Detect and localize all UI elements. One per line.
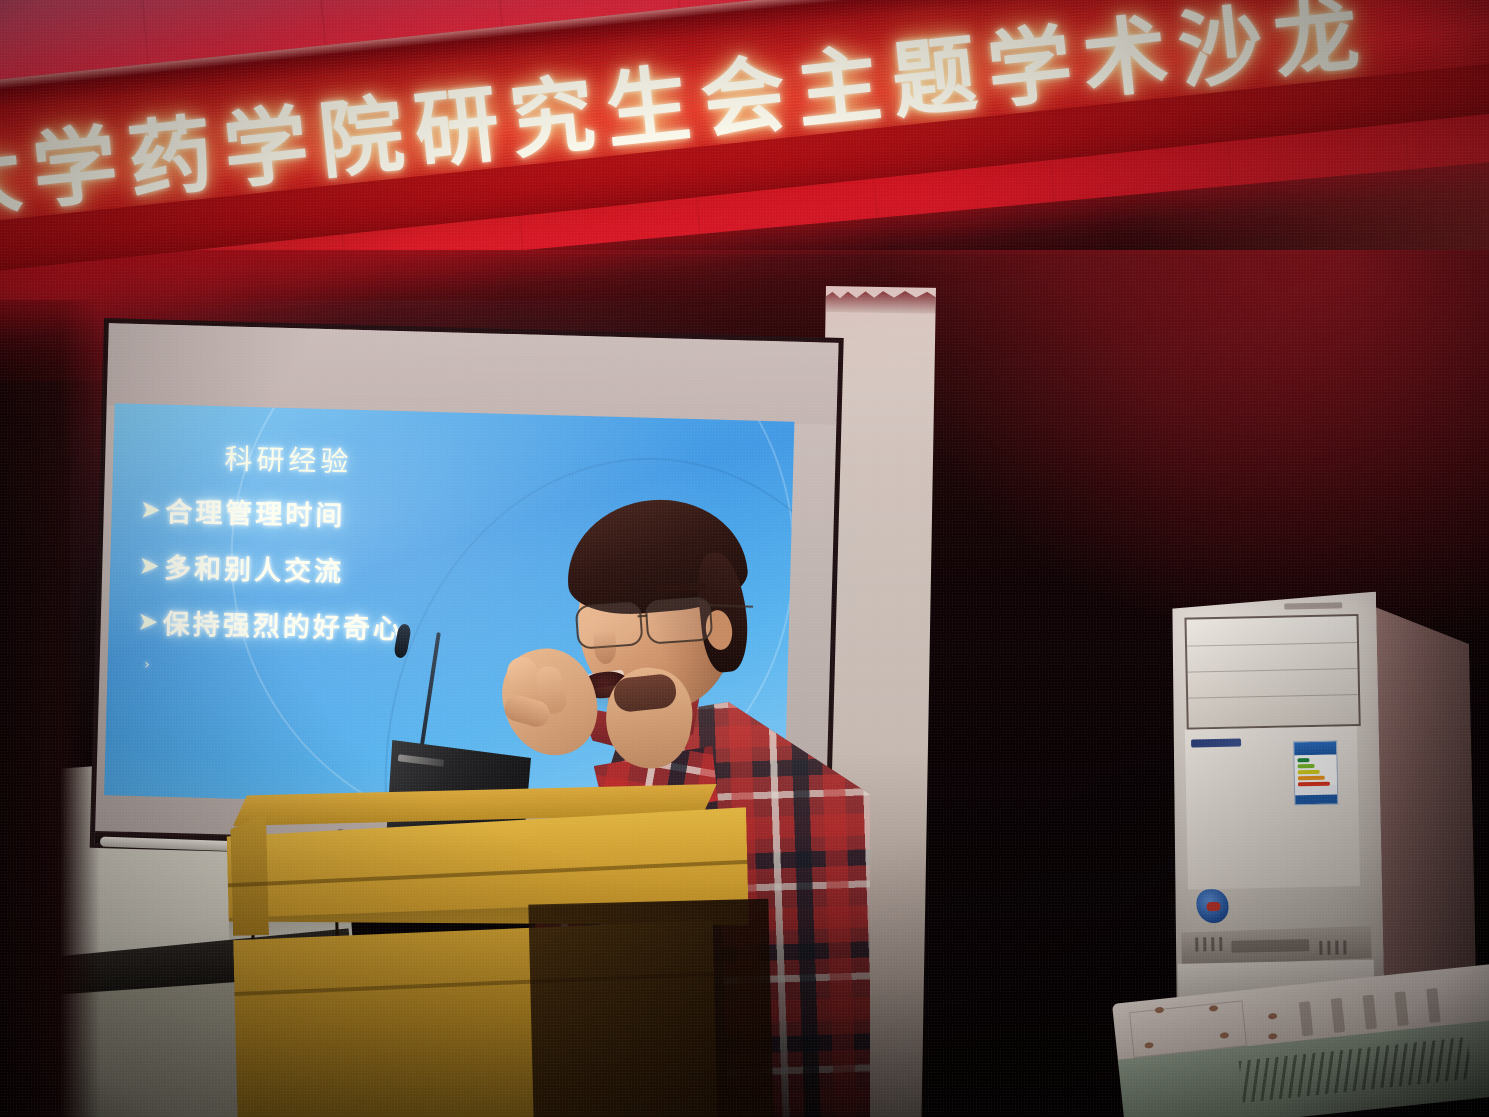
- chevron-right-icon: ➤: [134, 553, 165, 579]
- energy-label-footer: [1295, 795, 1337, 805]
- slide-bullet-text: 保持强烈的好奇心: [162, 602, 403, 646]
- wall-left-shadow: [0, 300, 100, 1117]
- energy-label-bars: [1294, 755, 1337, 786]
- energy-efficiency-label: [1293, 740, 1338, 805]
- energy-label-header: [1294, 742, 1336, 756]
- slide-bullet-item: ➤ 合理管理时间: [135, 490, 406, 535]
- slide-bullet-list: ➤ 合理管理时间 ➤ 多和别人交流 ➤ 保持强烈的好奇心 ›: [131, 490, 405, 695]
- slide-bullet-item-empty: ›: [132, 658, 402, 678]
- chevron-right-icon: ›: [132, 658, 162, 673]
- glasses-temple: [707, 604, 753, 608]
- ac-top-marking: [1284, 602, 1342, 609]
- wooden-lectern: [226, 799, 774, 1117]
- slide-title: 科研经验: [224, 438, 353, 481]
- ac-front-panel: [1168, 592, 1385, 1020]
- ac-side-panel: [1368, 594, 1477, 1016]
- equipment-vent-fins: [1239, 1037, 1472, 1103]
- slide-bullet-item: ➤ 多和别人交流: [134, 546, 405, 591]
- chevron-right-icon: ➤: [135, 497, 166, 523]
- lectern-shadow-side: [528, 899, 774, 1117]
- slide-bullet-text: 多和别人交流: [164, 546, 345, 589]
- slide-bullet-text: 合理管理时间: [165, 490, 346, 533]
- slide-bullet-item: ➤ 保持强烈的好奇心: [132, 602, 403, 647]
- panasonic-logo: [1191, 739, 1241, 748]
- photo-scene: 京大学药学院研究生会主题学术沙龙 科研经验 ➤ 合理管理时间: [0, 0, 1489, 1117]
- chevron-right-icon: ➤: [133, 609, 164, 635]
- blue-round-sticker: [1196, 889, 1229, 924]
- glasses-lens-right: [644, 596, 713, 644]
- floor-standing-air-conditioner: [1168, 591, 1427, 1026]
- ac-air-intake-grille: [1184, 614, 1360, 730]
